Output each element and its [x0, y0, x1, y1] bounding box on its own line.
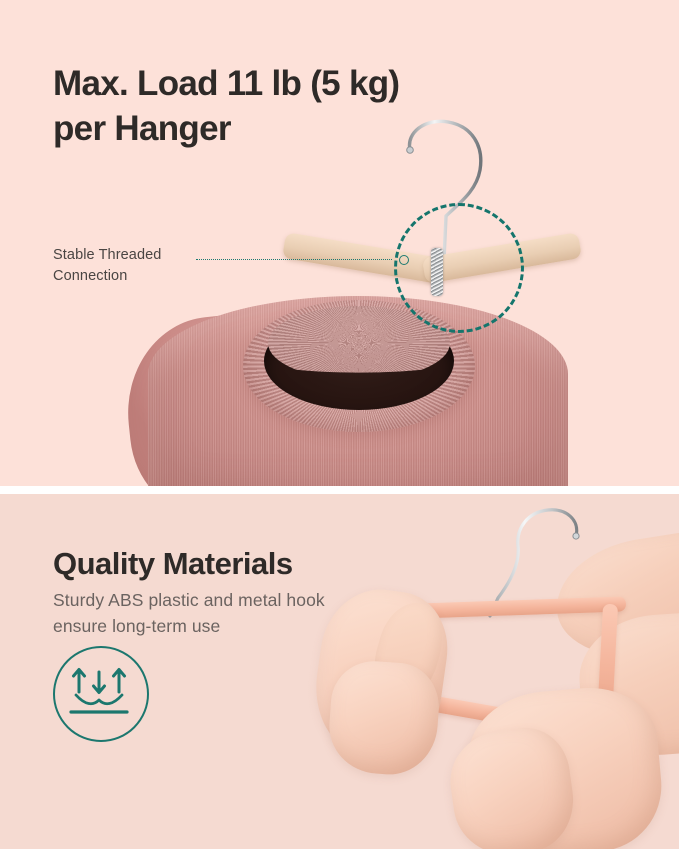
callout-label: Stable Threaded Connection	[53, 245, 233, 287]
quality-materials-panel: Quality Materials Sturdy ABS plastic and…	[0, 494, 679, 849]
max-load-panel: Max. Load 11 lb (5 kg) per Hanger Stable…	[0, 0, 679, 486]
leader-line	[196, 259, 392, 262]
highlight-circle	[394, 203, 524, 333]
hand-left-fingers	[326, 658, 442, 777]
panel-divider	[0, 486, 679, 494]
page-title: Max. Load 11 lb (5 kg) per Hanger	[53, 61, 533, 151]
section-title: Quality Materials	[53, 545, 483, 583]
section-subtext: Sturdy ABS plastic and metal hook ensure…	[53, 587, 423, 639]
durability-flex-icon	[53, 646, 149, 742]
product-feature-graphic: Max. Load 11 lb (5 kg) per Hanger Stable…	[0, 0, 679, 849]
